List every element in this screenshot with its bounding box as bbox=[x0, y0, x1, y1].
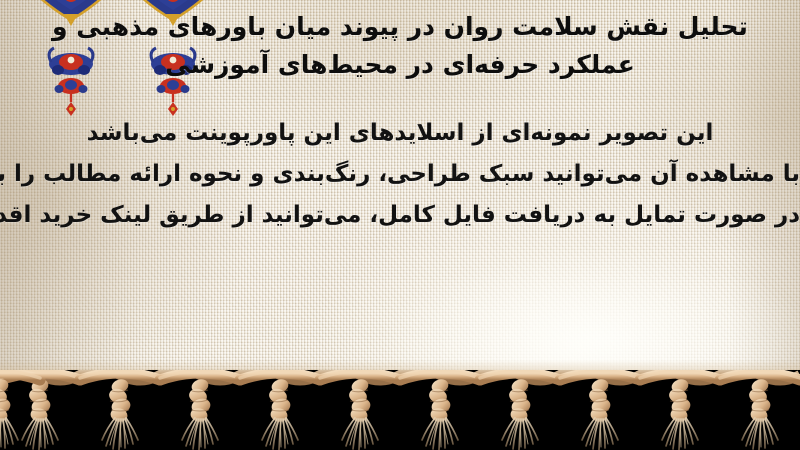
body-line-2: با مشاهده آن می‌توانید سبک طراحی، رنگ‌بن… bbox=[0, 154, 800, 195]
title-line-1: تحلیل نقش سلامت روان در پیوند میان باوره… bbox=[0, 8, 800, 46]
slide-title: تحلیل نقش سلامت روان در پیوند میان باوره… bbox=[0, 8, 800, 84]
slide-canvas: تحلیل نقش سلامت روان در پیوند میان باوره… bbox=[0, 0, 800, 450]
body-line-1: این تصویر نمونه‌ای از اسلایدهای این پاور… bbox=[0, 113, 800, 154]
slide-body: این تصویر نمونه‌ای از اسلایدهای این پاور… bbox=[0, 113, 800, 236]
body-line-3: در صورت تمایل به دریافت فایل کامل، می‌تو… bbox=[0, 195, 800, 236]
title-line-2: عملکرد حرفه‌ای در محیط‌های آموزشی bbox=[0, 46, 800, 84]
carpet-fringe bbox=[0, 370, 800, 450]
